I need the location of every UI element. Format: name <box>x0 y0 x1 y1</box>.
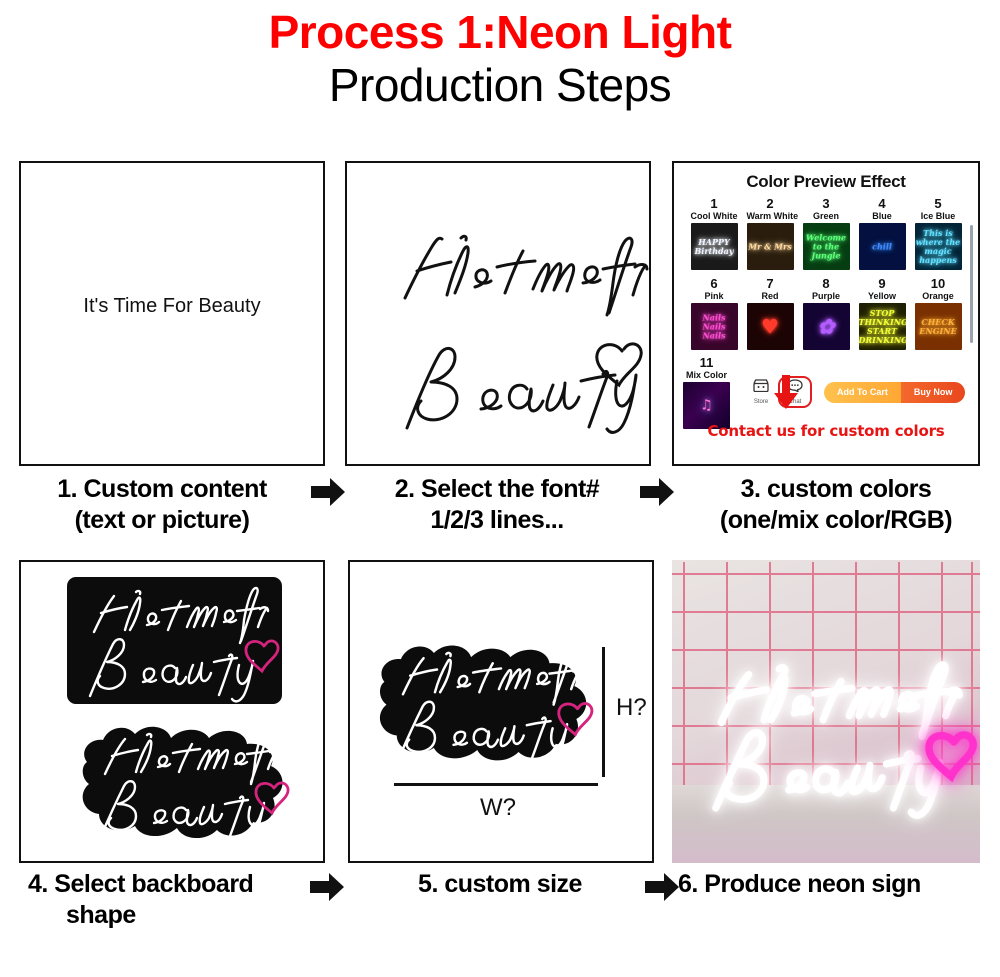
color-swatch-7[interactable]: 7Red♥ <box>747 277 794 350</box>
swatch-sign-text: ✿ <box>803 322 850 331</box>
color-swatch-row-1: 1Cool WhiteHAPPY Birthday2Warm WhiteMr &… <box>674 197 978 270</box>
swatch-number: 11 <box>683 356 730 370</box>
swatch-name: Yellow <box>859 291 906 302</box>
swatch-number: 2 <box>747 197 794 211</box>
swatch-thumbnail: Mr & Mrs <box>747 223 794 270</box>
step-1-panel: It's Time For Beauty <box>19 161 325 466</box>
swatch-thumbnail: STOP THINKING START DRINKING <box>859 303 906 350</box>
swatch-sign-text: STOP THINKING START DRINKING <box>859 309 906 345</box>
color-swatch-9[interactable]: 9YellowSTOP THINKING START DRINKING <box>859 277 906 350</box>
color-swatch-1[interactable]: 1Cool WhiteHAPPY Birthday <box>691 197 738 270</box>
step-2-panel <box>345 161 651 466</box>
cut-to-shape-backboard-sample[interactable] <box>75 714 293 849</box>
color-swatch-10[interactable]: 10OrangeCHECK ENGINE <box>915 277 962 350</box>
swatch-sign-text: ♥ <box>747 322 794 331</box>
swatch-number: 10 <box>915 277 962 291</box>
step-2-caption: 2. Select the font# 1/2/3 lines... <box>352 474 642 536</box>
step-6-panel <box>672 560 980 863</box>
page-title: Process 1:Neon Light Production Steps <box>0 0 1000 112</box>
swatch-number: 9 <box>859 277 906 291</box>
step-2-caption-line1: 2. Select the font# <box>352 474 642 505</box>
swatch-sign-text: CHECK ENGINE <box>915 318 962 336</box>
step-5-caption-line1: 5. custom size <box>360 869 640 900</box>
color-swatch-11[interactable]: 11 Mix Color ♫ <box>683 356 730 429</box>
swatch-name: Warm White <box>747 211 794 222</box>
width-dimension-line <box>394 783 598 786</box>
script-font-preview <box>347 163 649 464</box>
step-4-caption-line2: shape <box>28 900 310 931</box>
step-3-caption: 3. custom colors (one/mix color/RGB) <box>680 474 992 536</box>
swatch-name: Red <box>747 291 794 302</box>
swatch-number: 8 <box>803 277 850 291</box>
step-5-panel: H? W? <box>348 560 654 863</box>
swatch-sign-text: This is where the magic happens <box>915 229 962 265</box>
swatch-sign-text: Mr & Mrs <box>747 242 794 251</box>
step-3-caption-line1: 3. custom colors <box>680 474 992 505</box>
custom-content-text: It's Time For Beauty <box>21 295 323 318</box>
color-swatch-3[interactable]: 3GreenWelcome to the Jungle <box>803 197 850 270</box>
swatch-sign-text: Welcome to the Jungle <box>803 233 850 260</box>
swatch-thumbnail: ♥ <box>747 303 794 350</box>
swatch-name: Ice Blue <box>915 211 962 222</box>
swatch-thumbnail: Welcome to the Jungle <box>803 223 850 270</box>
mix-color-and-purchase-row: 11 Mix Color ♫ Store Chat <box>674 356 978 429</box>
swatch-number: 5 <box>915 197 962 211</box>
title-primary: Process 1:Neon Light <box>0 6 1000 58</box>
swatch-thumbnail: CHECK ENGINE <box>915 303 962 350</box>
width-dimension-label: W? <box>480 794 516 822</box>
color-swatch-8[interactable]: 8Purple✿ <box>803 277 850 350</box>
color-swatch-5[interactable]: 5Ice BlueThis is where the magic happens <box>915 197 962 270</box>
vertical-scrollbar[interactable] <box>970 225 973 343</box>
step-3-caption-line2: (one/mix color/RGB) <box>680 505 992 536</box>
step-4-caption-line1: 4. Select backboard <box>28 869 310 900</box>
swatch-name: Green <box>803 211 850 222</box>
swatch-name: Orange <box>915 291 962 302</box>
add-to-cart-button[interactable]: Add To Cart <box>824 382 901 403</box>
arrow-step1-to-step2-icon <box>311 477 345 507</box>
swatch-name: Purple <box>803 291 850 302</box>
neon-script-sized <box>372 632 597 772</box>
swatch-number: 7 <box>747 277 794 291</box>
arrow-step2-to-step3-icon <box>640 477 674 507</box>
swatch-thumbnail: HAPPY Birthday <box>691 223 738 270</box>
neon-script-on-rect <box>67 577 282 704</box>
swatch-number: 6 <box>691 277 738 291</box>
buy-now-button[interactable]: Buy Now <box>901 382 966 403</box>
color-preview-heading: Color Preview Effect <box>674 172 978 192</box>
swatch-name: Cool White <box>691 211 738 222</box>
store-icon <box>753 379 769 392</box>
title-secondary: Production Steps <box>0 58 1000 112</box>
swatch-thumbnail: Nails Nails Nails <box>691 303 738 350</box>
cart-button-group: Add To Cart Buy Now <box>824 382 965 403</box>
height-dimension-line <box>602 647 605 777</box>
swatch-number: 3 <box>803 197 850 211</box>
height-dimension-label: H? <box>616 694 647 722</box>
step-6-caption-line1: 6. Produce neon sign <box>678 869 998 900</box>
rectangle-backboard-sample[interactable] <box>67 577 282 704</box>
swatch-name: Pink <box>691 291 738 302</box>
swatch-number: 1 <box>691 197 738 211</box>
contact-note: Contact us for custom colors <box>674 422 978 440</box>
step-3-panel: Color Preview Effect 1Cool WhiteHAPPY Bi… <box>672 161 980 466</box>
color-swatch-4[interactable]: 4Bluechill <box>859 197 906 270</box>
swatch-sign-text: Nails Nails Nails <box>691 313 738 340</box>
swatch-name: Mix Color <box>683 370 730 381</box>
swatch-thumbnail: ✿ <box>803 303 850 350</box>
step-5-caption: 5. custom size <box>360 869 640 900</box>
swatch-number: 4 <box>859 197 906 211</box>
step-2-caption-line2: 1/2/3 lines... <box>352 505 642 536</box>
color-swatch-row-2: 6PinkNails Nails Nails7Red♥8Purple✿9Yell… <box>674 277 978 350</box>
red-down-arrow-icon <box>771 375 801 411</box>
swatch-sign-text: HAPPY Birthday <box>691 238 738 256</box>
finished-neon-sign <box>680 618 980 848</box>
step-1-caption-line2: (text or picture) <box>12 505 312 536</box>
sized-sign-sample <box>372 632 597 772</box>
arrow-step5-to-step6-icon <box>645 872 679 902</box>
swatch-thumbnail: chill <box>859 223 906 270</box>
step-4-panel <box>19 560 325 863</box>
step-1-caption-line1: 1. Custom content <box>12 474 312 505</box>
neon-script-on-shape <box>75 714 293 849</box>
swatch-sign-text: ♫ <box>683 401 730 410</box>
step-1-caption: 1. Custom content (text or picture) <box>12 474 312 536</box>
swatch-sign-text: chill <box>859 242 906 251</box>
step-4-caption: 4. Select backboard shape <box>10 869 310 931</box>
step-6-caption: 6. Produce neon sign <box>678 869 998 900</box>
color-swatch-6[interactable]: 6PinkNails Nails Nails <box>691 277 738 350</box>
color-swatch-2[interactable]: 2Warm WhiteMr & Mrs <box>747 197 794 270</box>
swatch-name: Blue <box>859 211 906 222</box>
arrow-step4-to-step5-icon <box>310 872 344 902</box>
swatch-thumbnail: This is where the magic happens <box>915 223 962 270</box>
